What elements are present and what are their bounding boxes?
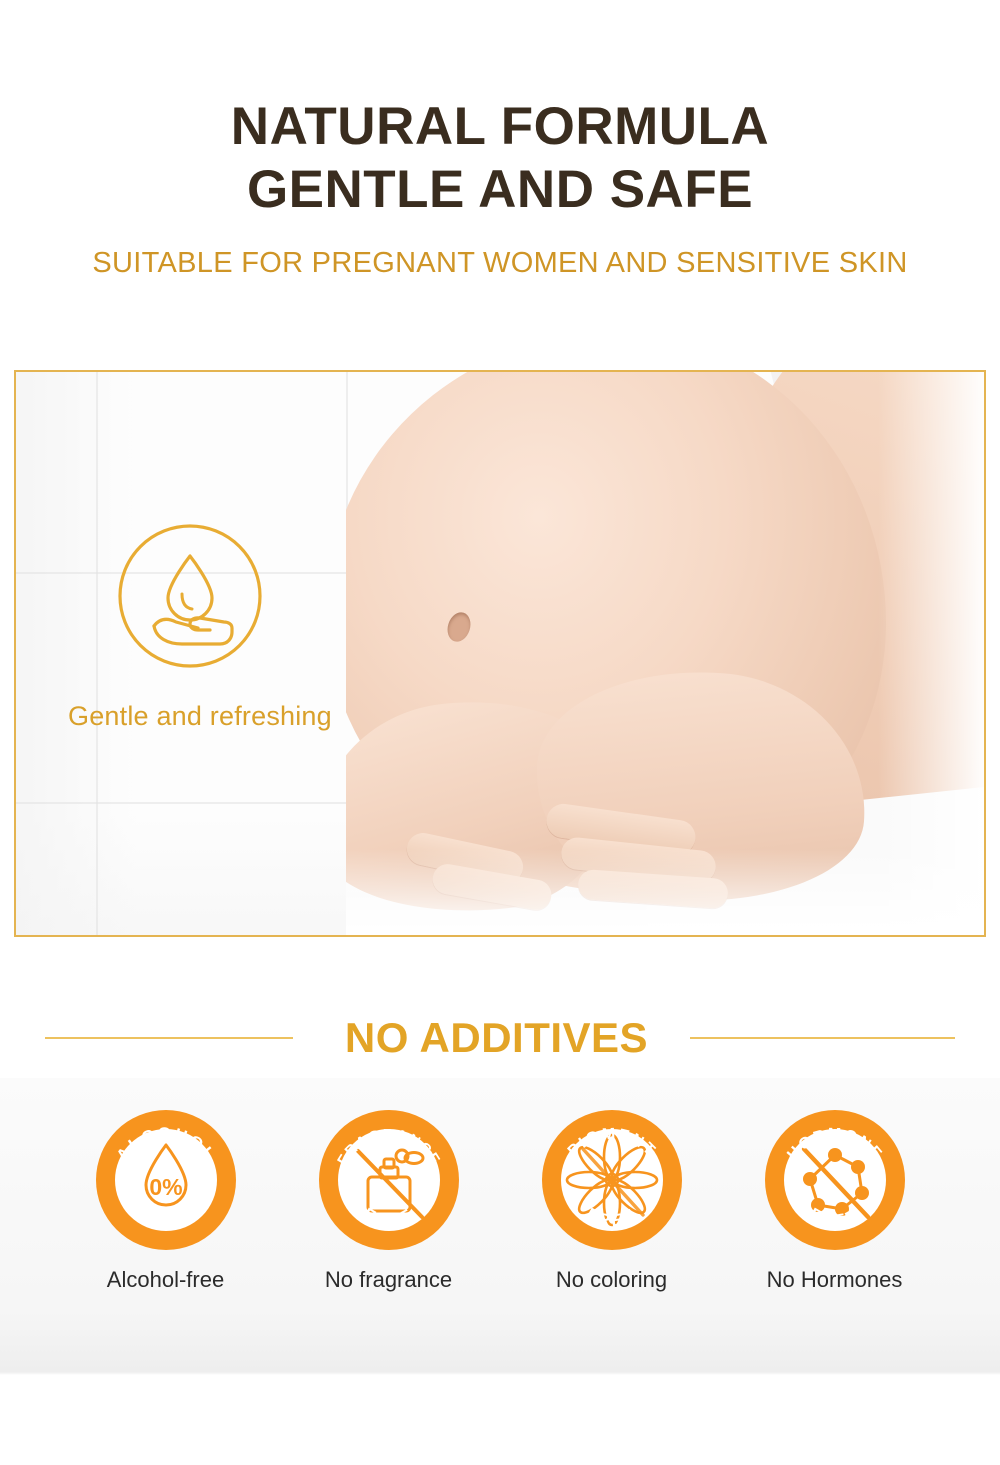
badge-caption: No Hormones	[757, 1267, 912, 1293]
divider-left	[45, 1037, 293, 1039]
badge-center-text: 0%	[149, 1174, 182, 1200]
pigment-free-badge-icon: PIGMENT FREE	[537, 1105, 687, 1255]
no-additives-title: NO ADDITIVES	[345, 1014, 648, 1062]
hero-photo-panel: Gentle and refreshing	[14, 370, 986, 937]
page-title-line-2: GENTLE AND SAFE	[0, 159, 1000, 222]
page-title-line-1: NATURAL FORMULA	[0, 96, 1000, 159]
no-additives-header: NO ADDITIVES	[0, 1008, 1000, 1068]
badge-caption: No coloring	[534, 1267, 689, 1293]
page-title: NATURAL FORMULA GENTLE AND SAFE	[0, 96, 1000, 221]
pregnant-belly-photo	[346, 372, 986, 937]
alcohol-free-badge-icon: 0% ALCOHOL FREE	[91, 1105, 241, 1255]
page-subtitle: SUITABLE FOR PREGNANT WOMEN AND SENSITIV…	[0, 247, 1000, 280]
photo-fade-bottom	[346, 849, 986, 937]
badge-alcohol-free: 0% ALCOHOL FREE Alcohol-free	[88, 1105, 243, 1293]
fragrance-free-badge-icon: FRAGRANCE FREE	[314, 1105, 464, 1255]
page-header: NATURAL FORMULA GENTLE AND SAFE SUITABLE…	[0, 0, 1000, 280]
background-seam	[16, 802, 346, 804]
badge-fragrance-free: FRAGRANCE FREE No fragrance	[311, 1105, 466, 1293]
hormone-free-badge-icon: HORMONE FREE	[760, 1105, 910, 1255]
badge-pigment-free: PIGMENT FREE No coloring	[534, 1105, 689, 1293]
badge-caption: Alcohol-free	[88, 1267, 243, 1293]
badge-caption: No fragrance	[311, 1267, 466, 1293]
badge-hormone-free: HORMONE FREE No Hormones	[757, 1105, 912, 1293]
feature-label: Gentle and refreshing	[68, 701, 398, 732]
droplet-on-hand-icon	[116, 522, 264, 670]
feature-gentle-refreshing: Gentle and refreshing	[68, 522, 398, 732]
no-additives-badge-row: 0% ALCOHOL FREE Alcohol-free	[0, 1105, 1000, 1293]
divider-right	[690, 1037, 955, 1039]
